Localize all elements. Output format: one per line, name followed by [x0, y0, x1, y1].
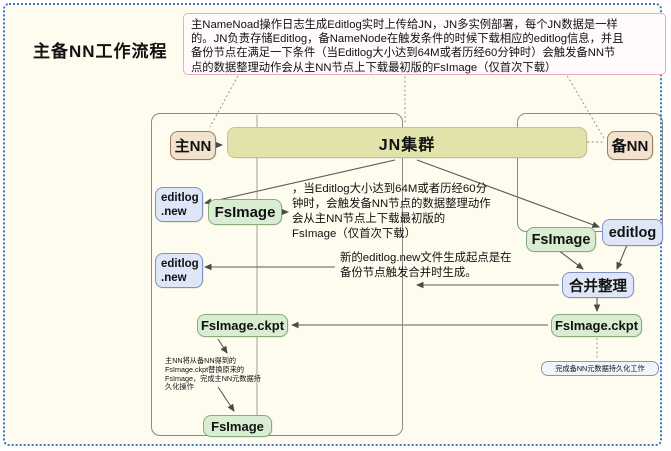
node-main-nn[interactable]: 主NN	[170, 131, 216, 160]
annotation-line: 新的editlog.new文件生成起点是在	[340, 251, 512, 266]
node-editlog-new-upper[interactable]: editlog .new	[155, 187, 203, 222]
annotation-line: ，当Editlog大小达到64M或者历经60分	[292, 182, 491, 197]
status-badge-backup-nn-persist: 完成备NN元数据持久化工作	[541, 361, 659, 376]
note-line: 的。JN负责存储Editlog，备NameNode在触发条件的时候下载相应的ed…	[191, 32, 658, 46]
node-jn-cluster[interactable]: JN集群	[227, 127, 587, 158]
node-fsimage-bottom[interactable]: FsImage	[203, 415, 272, 437]
diagram-canvas: 主备NN工作流程 主NameNoad操作日志生成Editlog实时上传给JN，J…	[3, 3, 662, 446]
note-line: 点的数据整理动作会从主NN节点上下载最初版的FsImage（仅首次下载）	[191, 61, 658, 75]
note-line: 主NameNoad操作日志生成Editlog实时上传给JN，JN多实例部署，每个…	[191, 18, 658, 32]
annotation-line: 会从主NN节点上下载最初版的	[292, 212, 491, 227]
node-editlog-new-lower[interactable]: editlog .new	[155, 253, 203, 288]
annotation-line: 备份节点触发合并时生成。	[340, 266, 512, 281]
annotation-line: FsImage（仅首次下载）	[292, 227, 491, 242]
page-title: 主备NN工作流程	[33, 37, 168, 62]
annotation-trigger-condition: ，当Editlog大小达到64M或者历经60分 钟时，会触发备NN节点的数据整理…	[292, 182, 491, 242]
annotation-line: 钟时，会触发备NN节点的数据整理动作	[292, 197, 491, 212]
top-annotation-note: 主NameNoad操作日志生成Editlog实时上传给JN，JN多实例部署，每个…	[183, 13, 666, 75]
node-merge[interactable]: 合并整理	[562, 272, 634, 298]
node-backup-nn[interactable]: 备NN	[607, 131, 653, 160]
node-fsimage-ckpt-left[interactable]: FsImage.ckpt	[197, 314, 288, 337]
annotation-editlog-new: 新的editlog.new文件生成起点是在 备份节点触发合并时生成。	[340, 251, 512, 281]
node-fsimage-left[interactable]: FsImage	[208, 199, 282, 225]
node-fsimage-right[interactable]: FsImage	[526, 227, 596, 252]
annotation-main-nn-persist: 主NN将从备NN得到的 FsImage.ckpt替换原来的 FsImage，完成…	[165, 357, 275, 392]
annotation-line: 久化操作	[165, 383, 275, 392]
note-line: 备份节点在满足一下条件（当Editlog大小达到64M或者历经60分钟时）会触发…	[191, 46, 658, 60]
node-fsimage-ckpt-right[interactable]: FsImage.ckpt	[551, 314, 642, 337]
node-editlog-right[interactable]: editlog	[602, 219, 663, 246]
